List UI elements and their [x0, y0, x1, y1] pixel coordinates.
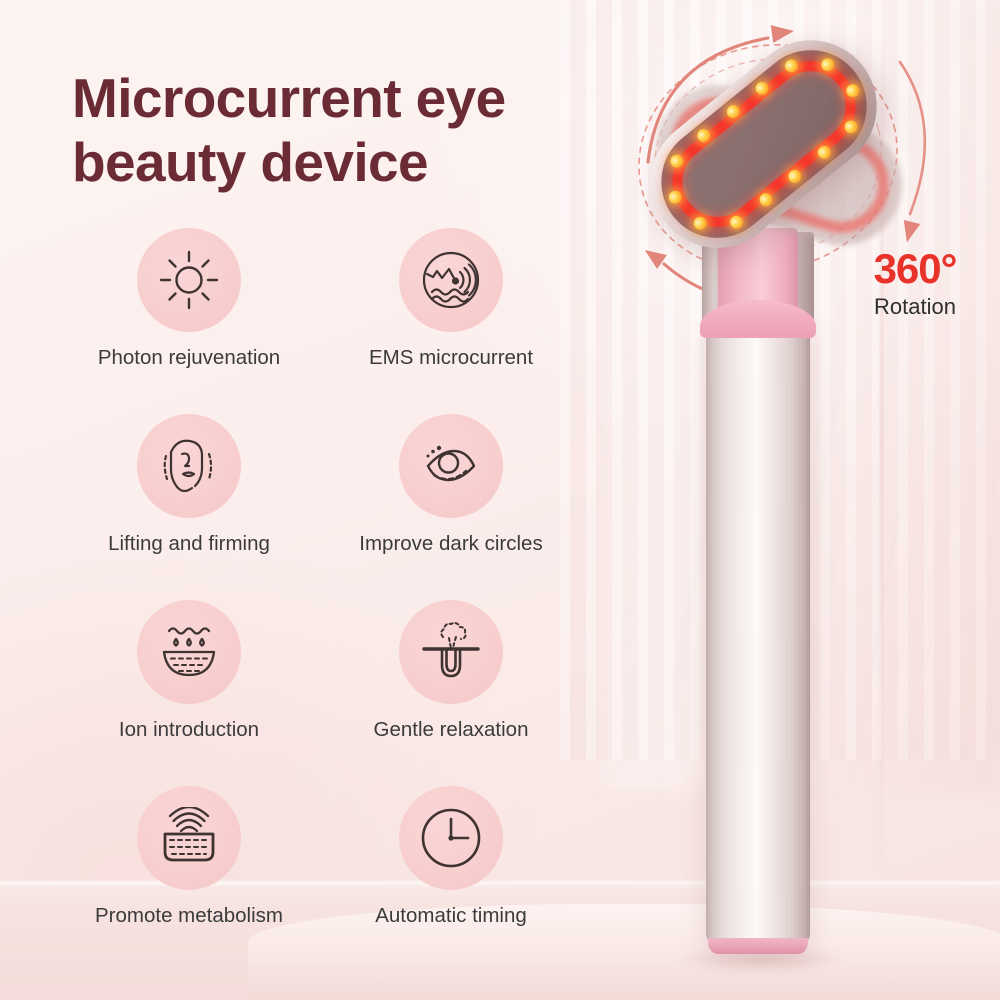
ems-wave-icon [418, 247, 484, 313]
feature-item-ion-introduction[interactable]: Ion introduction [60, 600, 318, 786]
feature-badge [137, 786, 241, 890]
feature-badge [399, 600, 503, 704]
feature-badge [399, 414, 503, 518]
feature-item-photon-rejuvenation[interactable]: Photon rejuvenation [60, 228, 318, 414]
page-title-line-2: beauty device [72, 130, 632, 194]
device-head-group [600, 0, 1000, 400]
feature-badge [137, 600, 241, 704]
page-title: Microcurrent eye beauty device [72, 66, 632, 195]
feature-label: Automatic timing [375, 904, 527, 928]
feature-item-lifting-and-firming[interactable]: Lifting and firming [60, 414, 318, 600]
feature-badge [137, 414, 241, 518]
feature-badge [399, 786, 503, 890]
feature-item-ems-microcurrent[interactable]: EMS microcurrent [322, 228, 580, 414]
feature-label: Lifting and firming [108, 532, 270, 556]
ion-bowl-icon [156, 621, 222, 683]
page-title-line-1: Microcurrent eye [72, 66, 632, 130]
feature-label: Gentle relaxation [374, 718, 529, 742]
eye-icon [418, 433, 484, 499]
feature-list: Photon rejuvenation EMS microcurrent [60, 228, 580, 972]
feature-item-improve-dark-circles[interactable]: Improve dark circles [322, 414, 580, 600]
metabolism-icon [156, 807, 222, 869]
feature-item-promote-metabolism[interactable]: Promote metabolism [60, 786, 318, 972]
feature-label: Photon rejuvenation [98, 346, 280, 370]
rotation-degrees: 360° [840, 248, 990, 290]
feature-badge [137, 228, 241, 332]
pore-steam-icon [418, 620, 484, 684]
device-base-cap [708, 938, 808, 954]
clock-icon [418, 805, 484, 871]
feature-item-gentle-relaxation[interactable]: Gentle relaxation [322, 600, 580, 786]
feature-label: EMS microcurrent [369, 346, 533, 370]
product-device: 360° Rotation [600, 0, 1000, 1000]
rotation-word: Rotation [840, 294, 990, 320]
handle-texture [706, 320, 810, 945]
face-lifting-icon [157, 434, 221, 498]
feature-badge [399, 228, 503, 332]
sun-icon [158, 249, 220, 311]
feature-label: Ion introduction [119, 718, 259, 742]
feature-item-automatic-timing[interactable]: Automatic timing [322, 786, 580, 972]
feature-label: Promote metabolism [95, 904, 283, 928]
device-handle [706, 320, 810, 945]
feature-label: Improve dark circles [359, 532, 542, 556]
rotation-label: 360° Rotation [840, 248, 990, 320]
